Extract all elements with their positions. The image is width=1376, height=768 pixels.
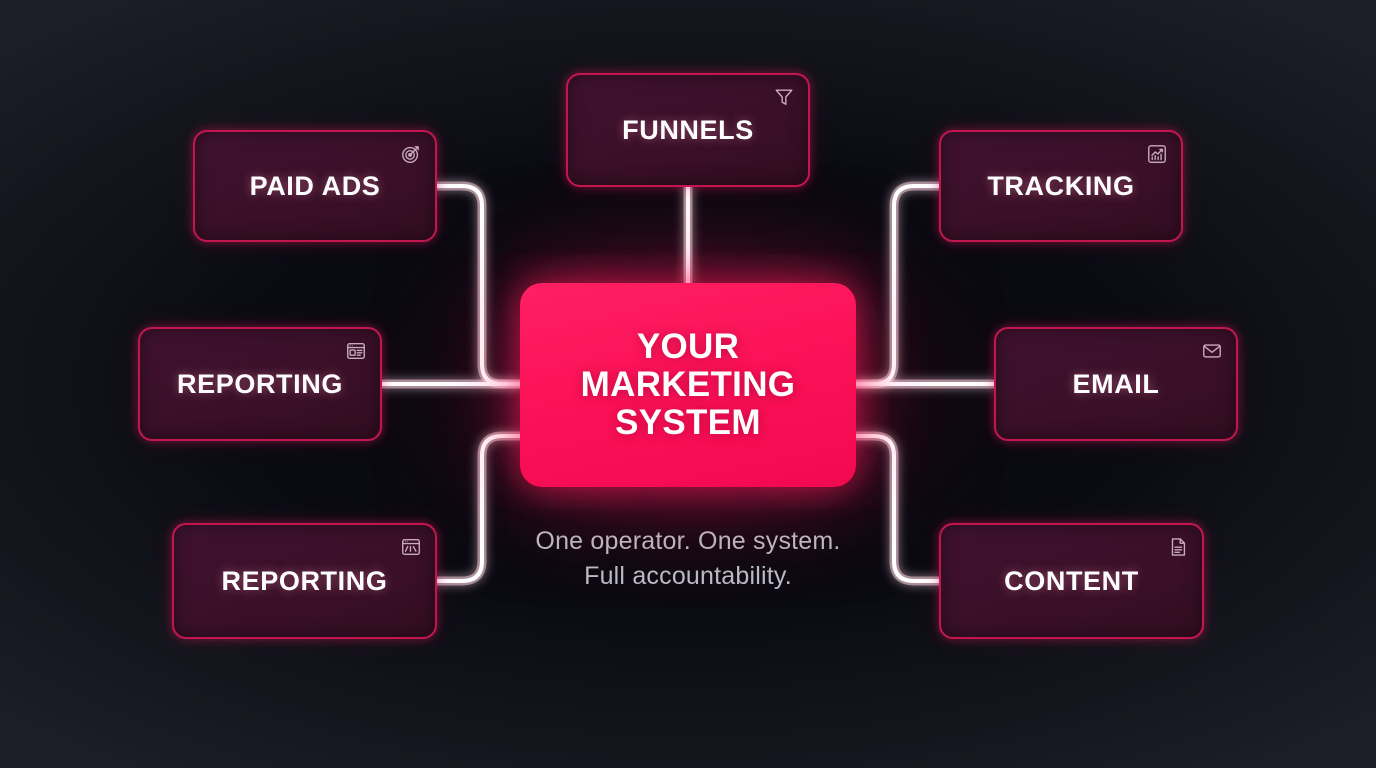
funnel-icon [773, 86, 795, 108]
envelope-icon [1201, 340, 1223, 362]
node-email[interactable]: EMAIL [994, 327, 1238, 441]
target-icon [400, 143, 422, 165]
tagline-line-2: Full accountability. [0, 559, 1376, 594]
tagline: One operator. One system. Full accountab… [0, 524, 1376, 593]
node-reporting-left[interactable]: REPORTING [138, 327, 382, 441]
node-label: TRACKING [987, 171, 1134, 202]
node-label: FUNNELS [622, 115, 754, 146]
analytics-chart-icon [1146, 143, 1168, 165]
tagline-line-1: One operator. One system. [0, 524, 1376, 559]
center-node-label: YOUR MARKETING SYSTEM [581, 328, 796, 441]
center-line-3: SYSTEM [581, 404, 796, 442]
browser-window-icon [345, 340, 367, 362]
connector-paid-ads [437, 186, 520, 384]
node-label: PAID ADS [250, 171, 381, 202]
diagram-canvas: PAID ADS FUNNELS TRACKING [0, 0, 1376, 768]
center-line-2: MARKETING [581, 366, 796, 404]
center-node-marketing-system[interactable]: YOUR MARKETING SYSTEM [520, 283, 856, 487]
center-line-1: YOUR [581, 328, 796, 366]
node-paid-ads[interactable]: PAID ADS [193, 130, 437, 242]
node-label: EMAIL [1073, 369, 1160, 400]
node-tracking[interactable]: TRACKING [939, 130, 1183, 242]
connector-tracking [856, 186, 939, 384]
node-label: REPORTING [177, 369, 343, 400]
node-funnels[interactable]: FUNNELS [566, 73, 810, 187]
